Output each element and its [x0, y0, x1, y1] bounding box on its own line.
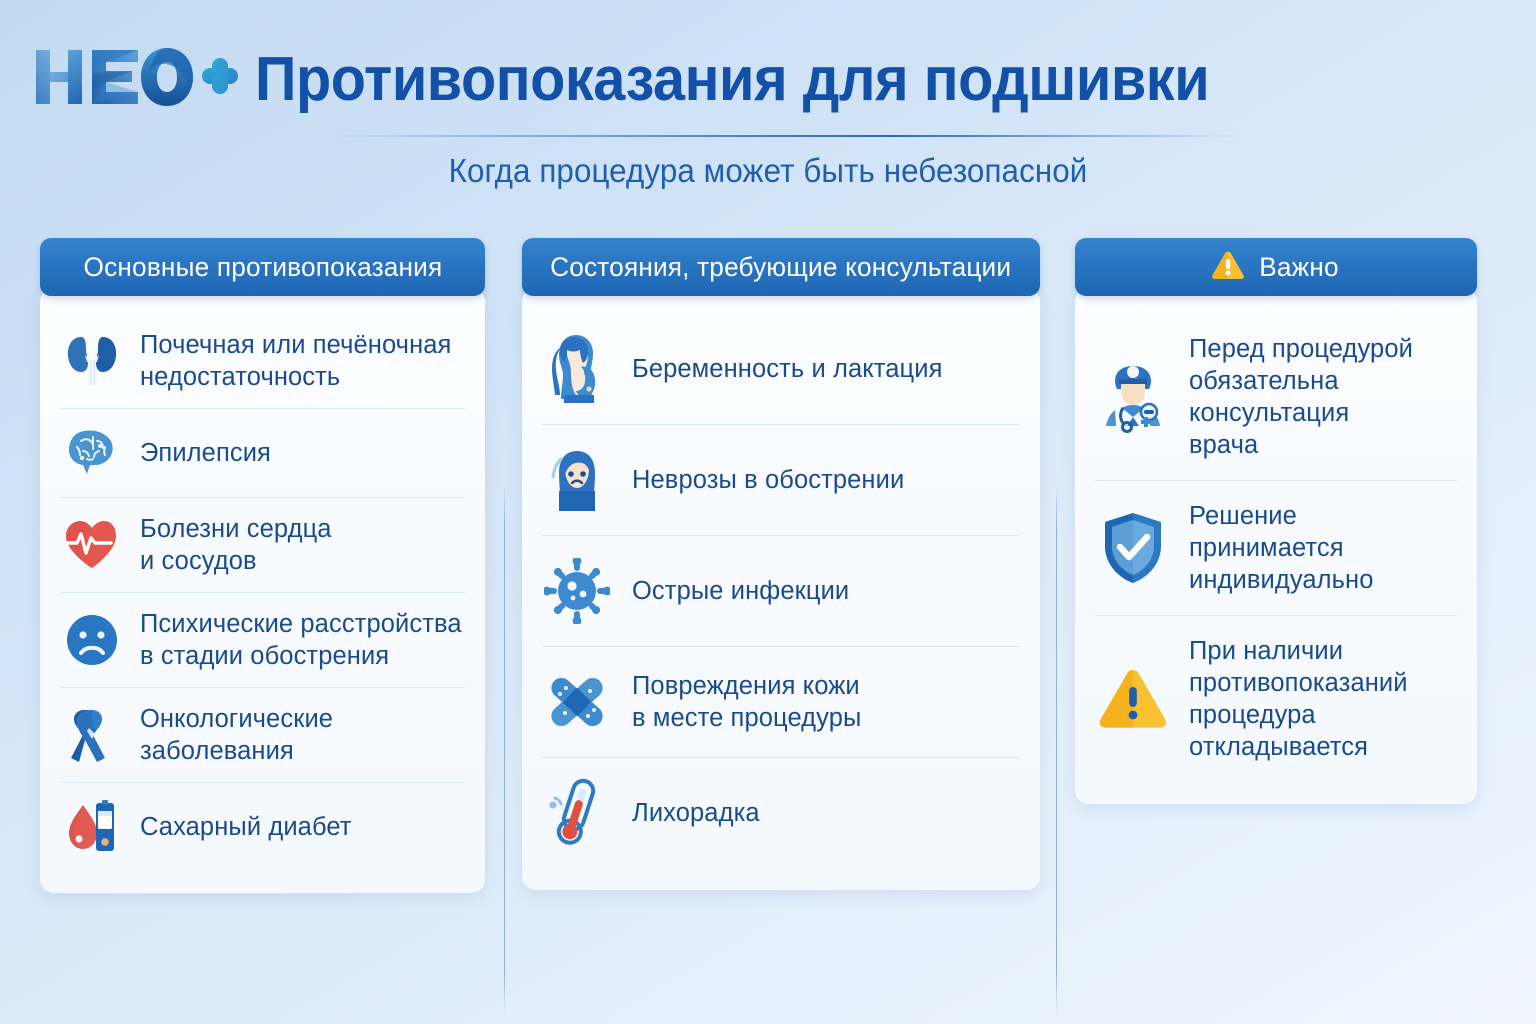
list-item-label: Почечная или печёночная недостаточность [140, 329, 451, 393]
title-divider [330, 135, 1240, 137]
card-conditions-needing-consultation: Состояния, требующие консультации Береме… [522, 238, 1040, 890]
list-item-label: Сахарный диабет [140, 811, 352, 843]
card-header-main-contraindications: Основные противопоказания [40, 238, 485, 296]
awareness-ribbon-icon [62, 706, 122, 764]
card-main-contraindications: Основные противопоказания Почечная или п… [40, 238, 485, 893]
blood-glucose-icon [62, 798, 122, 856]
list-item[interactable]: Психические расстройства в стадии обостр… [60, 592, 465, 687]
card-body-conditions: Беременность и лактация Неврозы в [522, 288, 1040, 890]
list-item[interactable]: Повреждения кожи в месте процедуры [542, 646, 1020, 757]
card-header-label: Основные противопоказания [83, 252, 442, 283]
list-item[interactable]: Эпилепсия [60, 408, 465, 497]
list-item-label: Повреждения кожи в месте процедуры [632, 670, 861, 734]
list-item[interactable]: Беременность и лактация [542, 314, 1020, 424]
list-item[interactable]: Онкологические заболевания [60, 687, 465, 782]
list-item-label: Болезни сердца и сосудов [140, 513, 332, 577]
list-item[interactable]: Лихорадка [542, 757, 1020, 868]
warning-triangle-icon [1097, 661, 1169, 737]
worried-woman-icon [544, 444, 610, 516]
card-body-main-contraindications: Почечная или печёночная недостаточность … [40, 288, 485, 893]
brain-icon [62, 424, 122, 482]
list-item[interactable]: Перед процедурой обязательна консультаци… [1095, 314, 1457, 480]
neo-plus-logo-icon [34, 44, 239, 115]
list-item[interactable]: Сахарный диабет [60, 782, 465, 871]
doctor-icon [1097, 359, 1169, 435]
sad-face-icon [62, 611, 122, 669]
list-item-label: Беременность и лактация [632, 353, 943, 385]
card-header-label: Важно [1260, 252, 1340, 283]
heart-pulse-icon [62, 516, 122, 574]
list-item[interactable]: Почечная или печёночная недостаточность [60, 314, 465, 408]
shield-check-icon [1097, 510, 1169, 586]
card-header-important: Важно [1075, 238, 1477, 296]
card-header-label: Состояния, требующие консультации [550, 252, 1011, 283]
pregnant-woman-icon [544, 333, 610, 405]
card-important: Важно [1075, 238, 1477, 804]
list-item[interactable]: При наличии противопоказаний процедура о… [1095, 615, 1457, 782]
column-divider-2 [1056, 484, 1057, 1014]
thermometer-icon [544, 777, 610, 849]
list-item-label: Лихорадка [632, 797, 760, 829]
page-subtitle: Когда процедура может быть небезопасной [38, 152, 1497, 190]
list-item-label: Решение принимается индивидуально [1189, 500, 1455, 596]
list-item-label: Эпилепсия [140, 437, 271, 469]
list-item-label: Перед процедурой обязательна консультаци… [1189, 333, 1455, 461]
list-item-label: При наличии противопоказаний процедура о… [1189, 635, 1455, 763]
list-item[interactable]: Болезни сердца и сосудов [60, 497, 465, 592]
list-item[interactable]: Решение принимается индивидуально [1095, 480, 1457, 615]
kidneys-icon [62, 332, 122, 390]
page-title: Противопоказания для подшивки [255, 49, 1209, 111]
card-header-conditions: Состояния, требующие консультации [522, 238, 1040, 296]
list-item[interactable]: Неврозы в обострении [542, 424, 1020, 535]
list-item[interactable]: Острые инфекции [542, 535, 1020, 646]
brand-row: Противопоказания для подшивки [34, 44, 1281, 115]
bandages-icon [544, 666, 610, 738]
list-item-label: Психические расстройства в стадии обостр… [140, 608, 462, 672]
card-body-important: Перед процедурой обязательна консультаци… [1075, 288, 1477, 804]
page-header: Противопоказания для подшивки Когда проц… [0, 0, 1536, 210]
list-item-label: Острые инфекции [632, 575, 849, 607]
column-divider-1 [504, 484, 505, 1014]
warning-triangle-icon [1211, 250, 1245, 285]
list-item-label: Неврозы в обострении [632, 464, 904, 496]
list-item-label: Онкологические заболевания [140, 703, 463, 767]
virus-icon [544, 555, 610, 627]
